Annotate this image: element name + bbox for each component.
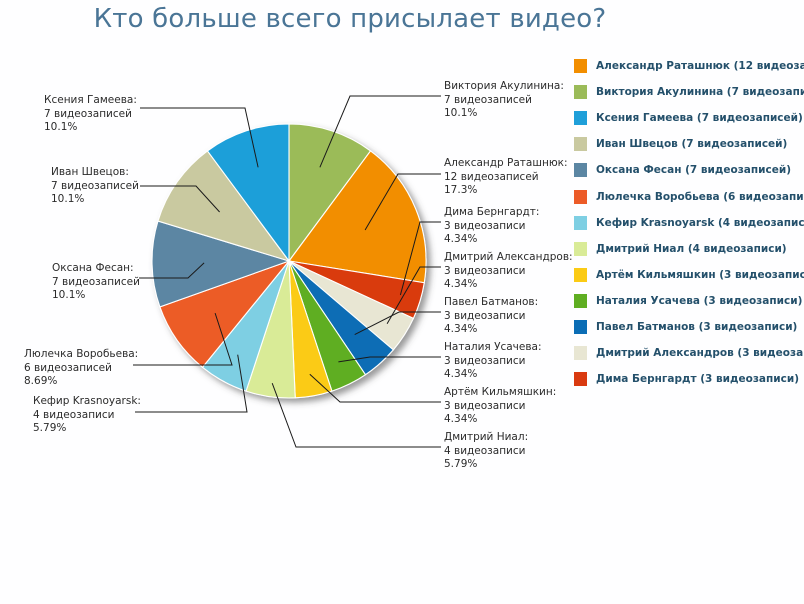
callout-count: 3 видеозаписи — [444, 400, 556, 414]
legend-item-label: Павел Батманов (3 видеозаписи) — [596, 321, 797, 333]
legend-item-label: Люлечка Воробьева (6 видеозаписей) — [596, 191, 804, 203]
callout-percent: 10.1% — [44, 121, 137, 135]
legend-color-swatch — [574, 372, 587, 386]
legend-item-label: Виктория Акулинина (7 видеозаписей) — [596, 86, 804, 98]
callout-name: Оксана Фесан: — [52, 262, 140, 276]
callout-kefir: Кефир Krasnoyarsk: 4 видеозаписи 5.79% — [33, 395, 141, 436]
callout-name: Люлечка Воробьева: — [24, 348, 138, 362]
callout-count: 6 видеозаписей — [24, 362, 138, 376]
callout-count: 7 видеозаписей — [52, 276, 140, 290]
callout-count: 7 видеозаписей — [51, 180, 139, 194]
legend-color-swatch — [574, 163, 587, 177]
legend-item-label: Наталия Усачева (3 видеозаписи) — [596, 295, 802, 307]
callout-percent: 5.79% — [444, 458, 528, 472]
callout-percent: 17.3% — [444, 184, 568, 198]
callout-percent: 4.34% — [444, 278, 573, 292]
chart-legend: Александр Раташнюк (12 видеозаписей)Викт… — [574, 53, 804, 392]
legend-color-swatch — [574, 190, 587, 204]
callout-artyom: Артём Кильмяшкин: 3 видеозаписи 4.34% — [444, 386, 556, 427]
legend-item[interactable]: Дмитрий Ниал (4 видеозаписи) — [574, 236, 804, 262]
callout-percent: 10.1% — [52, 289, 140, 303]
callout-percent: 4.34% — [444, 233, 539, 247]
legend-item-label: Кефир Krasnoyarsk (4 видеозаписи) — [596, 217, 804, 229]
callout-name: Виктория Акулинина: — [444, 80, 564, 94]
legend-item-label: Оксана Фесан (7 видеозаписей) — [596, 164, 791, 176]
legend-color-swatch — [574, 294, 587, 308]
callout-ivan: Иван Швецов: 7 видеозаписей 10.1% — [51, 166, 139, 207]
legend-color-swatch — [574, 85, 587, 99]
callout-count: 3 видеозаписи — [444, 265, 573, 279]
callout-name: Артём Кильмяшкин: — [444, 386, 556, 400]
legend-item-label: Артём Кильмяшкин (3 видеозаписи) — [596, 269, 804, 281]
legend-color-swatch — [574, 320, 587, 334]
callout-count: 7 видеозаписей — [444, 94, 564, 108]
callout-percent: 4.34% — [444, 368, 542, 382]
legend-item-label: Александр Раташнюк (12 видеозаписей) — [596, 60, 804, 72]
legend-item[interactable]: Наталия Усачева (3 видеозаписи) — [574, 288, 804, 314]
legend-color-swatch — [574, 59, 587, 73]
legend-color-swatch — [574, 268, 587, 282]
legend-item[interactable]: Дмитрий Александров (3 видеозаписи) — [574, 340, 804, 366]
callout-dmitry-aleksandrov: Дмитрий Александров: 3 видеозаписи 4.34% — [444, 251, 573, 292]
callout-percent: 5.79% — [33, 422, 141, 436]
callout-oksana: Оксана Фесан: 7 видеозаписей 10.1% — [52, 262, 140, 303]
legend-color-swatch — [574, 216, 587, 230]
legend-item-label: Иван Швецов (7 видеозаписей) — [596, 138, 787, 150]
callout-count: 3 видеозаписи — [444, 355, 542, 369]
callout-count: 3 видеозаписи — [444, 220, 539, 234]
legend-color-swatch — [574, 242, 587, 256]
callout-count: 7 видеозаписей — [44, 108, 137, 122]
callout-count: 12 видеозаписей — [444, 171, 568, 185]
legend-item-label: Дмитрий Александров (3 видеозаписи) — [596, 347, 804, 359]
legend-color-swatch — [574, 137, 587, 151]
callout-name: Наталия Усачева: — [444, 341, 542, 355]
callout-dima-berngardt: Дима Бернгардт: 3 видеозаписи 4.34% — [444, 206, 539, 247]
callout-count: 3 видеозаписи — [444, 310, 538, 324]
callout-name: Ксения Гамеева: — [44, 94, 137, 108]
callout-name: Кефир Krasnoyarsk: — [33, 395, 141, 409]
callout-nataliya: Наталия Усачева: 3 видеозаписи 4.34% — [444, 341, 542, 382]
callout-name: Дмитрий Ниал: — [444, 431, 528, 445]
chart-page: Кто больше всего присылает видео? Ксения… — [0, 0, 804, 604]
callout-percent: 10.1% — [51, 193, 139, 207]
callout-percent: 10.1% — [444, 107, 564, 121]
callout-name: Дима Бернгардт: — [444, 206, 539, 220]
callout-name: Павел Батманов: — [444, 296, 538, 310]
legend-item[interactable]: Дима Бернгардт (3 видеозаписи) — [574, 366, 804, 392]
callout-dmitry-nial: Дмитрий Ниал: 4 видеозаписи 5.79% — [444, 431, 528, 472]
legend-item[interactable]: Ксения Гамеева (7 видеозаписей) — [574, 105, 804, 131]
legend-item-label: Дима Бернгардт (3 видеозаписи) — [596, 373, 799, 385]
callout-percent: 8.69% — [24, 375, 138, 389]
legend-item[interactable]: Павел Батманов (3 видеозаписи) — [574, 314, 804, 340]
legend-item-label: Дмитрий Ниал (4 видеозаписи) — [596, 243, 787, 255]
callout-count: 4 видеозаписи — [33, 409, 141, 423]
callout-ksenia: Ксения Гамеева: 7 видеозаписей 10.1% — [44, 94, 137, 135]
callout-viktoria: Виктория Акулинина: 7 видеозаписей 10.1% — [444, 80, 564, 121]
legend-item-label: Ксения Гамеева (7 видеозаписей) — [596, 112, 803, 124]
callout-count: 4 видеозаписи — [444, 445, 528, 459]
callout-name: Александр Раташнюк: — [444, 157, 568, 171]
callout-name: Иван Швецов: — [51, 166, 139, 180]
legend-item[interactable]: Александр Раташнюк (12 видеозаписей) — [574, 53, 804, 79]
legend-color-swatch — [574, 111, 587, 125]
callout-percent: 4.34% — [444, 323, 538, 337]
legend-item[interactable]: Виктория Акулинина (7 видеозаписей) — [574, 79, 804, 105]
callout-lyulechka: Люлечка Воробьева: 6 видеозаписей 8.69% — [24, 348, 138, 389]
legend-item[interactable]: Оксана Фесан (7 видеозаписей) — [574, 157, 804, 183]
legend-item[interactable]: Артём Кильмяшкин (3 видеозаписи) — [574, 262, 804, 288]
callout-percent: 4.34% — [444, 413, 556, 427]
legend-item[interactable]: Иван Швецов (7 видеозаписей) — [574, 131, 804, 157]
callout-pavel: Павел Батманов: 3 видеозаписи 4.34% — [444, 296, 538, 337]
legend-item[interactable]: Люлечка Воробьева (6 видеозаписей) — [574, 183, 804, 209]
legend-item[interactable]: Кефир Krasnoyarsk (4 видеозаписи) — [574, 210, 804, 236]
legend-color-swatch — [574, 346, 587, 360]
callout-name: Дмитрий Александров: — [444, 251, 573, 265]
callout-aleksandr: Александр Раташнюк: 12 видеозаписей 17.3… — [444, 157, 568, 198]
